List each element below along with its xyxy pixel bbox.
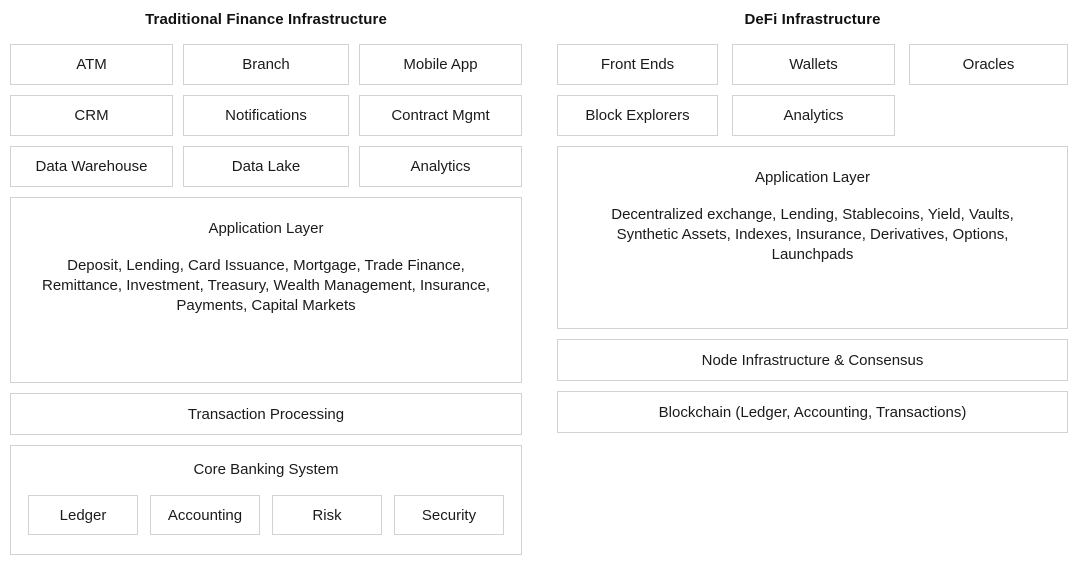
tf-application-layer-panel[interactable]: Application Layer Deposit, Lending, Card…	[10, 197, 522, 383]
defi-box-block-explorers[interactable]: Block Explorers	[557, 95, 718, 136]
column-title-defi: DeFi Infrastructure	[557, 0, 1068, 44]
tf-box-contract-mgmt[interactable]: Contract Mgmt	[359, 95, 522, 136]
tf-row-2: CRM Notifications Contract Mgmt	[10, 95, 522, 136]
defi-bar-blockchain[interactable]: Blockchain (Ledger, Accounting, Transact…	[557, 391, 1068, 433]
column-title-traditional-finance: Traditional Finance Infrastructure	[10, 0, 522, 44]
defi-box-wallets[interactable]: Wallets	[732, 44, 895, 85]
column-defi: DeFi Infrastructure Front Ends Wallets O…	[557, 0, 1068, 443]
tf-box-ledger[interactable]: Ledger	[28, 495, 138, 535]
defi-application-layer-panel[interactable]: Application Layer Decentralized exchange…	[557, 146, 1068, 329]
defi-box-analytics[interactable]: Analytics	[732, 95, 895, 136]
defi-application-layer-body: Decentralized exchange, Lending, Stablec…	[589, 205, 1037, 265]
tf-bar-transaction-processing[interactable]: Transaction Processing	[10, 393, 522, 435]
defi-box-oracles[interactable]: Oracles	[909, 44, 1068, 85]
tf-box-crm[interactable]: CRM	[10, 95, 173, 136]
tf-box-accounting[interactable]: Accounting	[150, 495, 260, 535]
defi-row-2: Block Explorers Analytics	[557, 95, 1068, 136]
defi-application-layer-title: Application Layer	[755, 169, 870, 186]
tf-box-mobile-app[interactable]: Mobile App	[359, 44, 522, 85]
defi-box-front-ends[interactable]: Front Ends	[557, 44, 718, 85]
defi-bar-node-infrastructure-consensus[interactable]: Node Infrastructure & Consensus	[557, 339, 1068, 381]
tf-box-security[interactable]: Security	[394, 495, 504, 535]
tf-box-risk[interactable]: Risk	[272, 495, 382, 535]
tf-row-3: Data Warehouse Data Lake Analytics	[10, 146, 522, 187]
tf-box-data-lake[interactable]: Data Lake	[183, 146, 349, 187]
tf-application-layer-body: Deposit, Lending, Card Issuance, Mortgag…	[30, 256, 502, 316]
tf-box-atm[interactable]: ATM	[10, 44, 173, 85]
tf-row-1: ATM Branch Mobile App	[10, 44, 522, 85]
tf-core-banking-system-group[interactable]: Core Banking System Ledger Accounting Ri…	[10, 445, 522, 555]
tf-box-analytics[interactable]: Analytics	[359, 146, 522, 187]
tf-core-banking-system-title: Core Banking System	[193, 461, 338, 478]
tf-application-layer-title: Application Layer	[208, 220, 323, 237]
tf-box-data-warehouse[interactable]: Data Warehouse	[10, 146, 173, 187]
defi-row-1: Front Ends Wallets Oracles	[557, 44, 1068, 85]
diagram-canvas: Traditional Finance Infrastructure ATM B…	[0, 0, 1080, 568]
column-traditional-finance: Traditional Finance Infrastructure ATM B…	[10, 0, 522, 555]
tf-box-branch[interactable]: Branch	[183, 44, 349, 85]
tf-core-banking-system-items: Ledger Accounting Risk Security	[28, 495, 504, 535]
tf-box-notifications[interactable]: Notifications	[183, 95, 349, 136]
